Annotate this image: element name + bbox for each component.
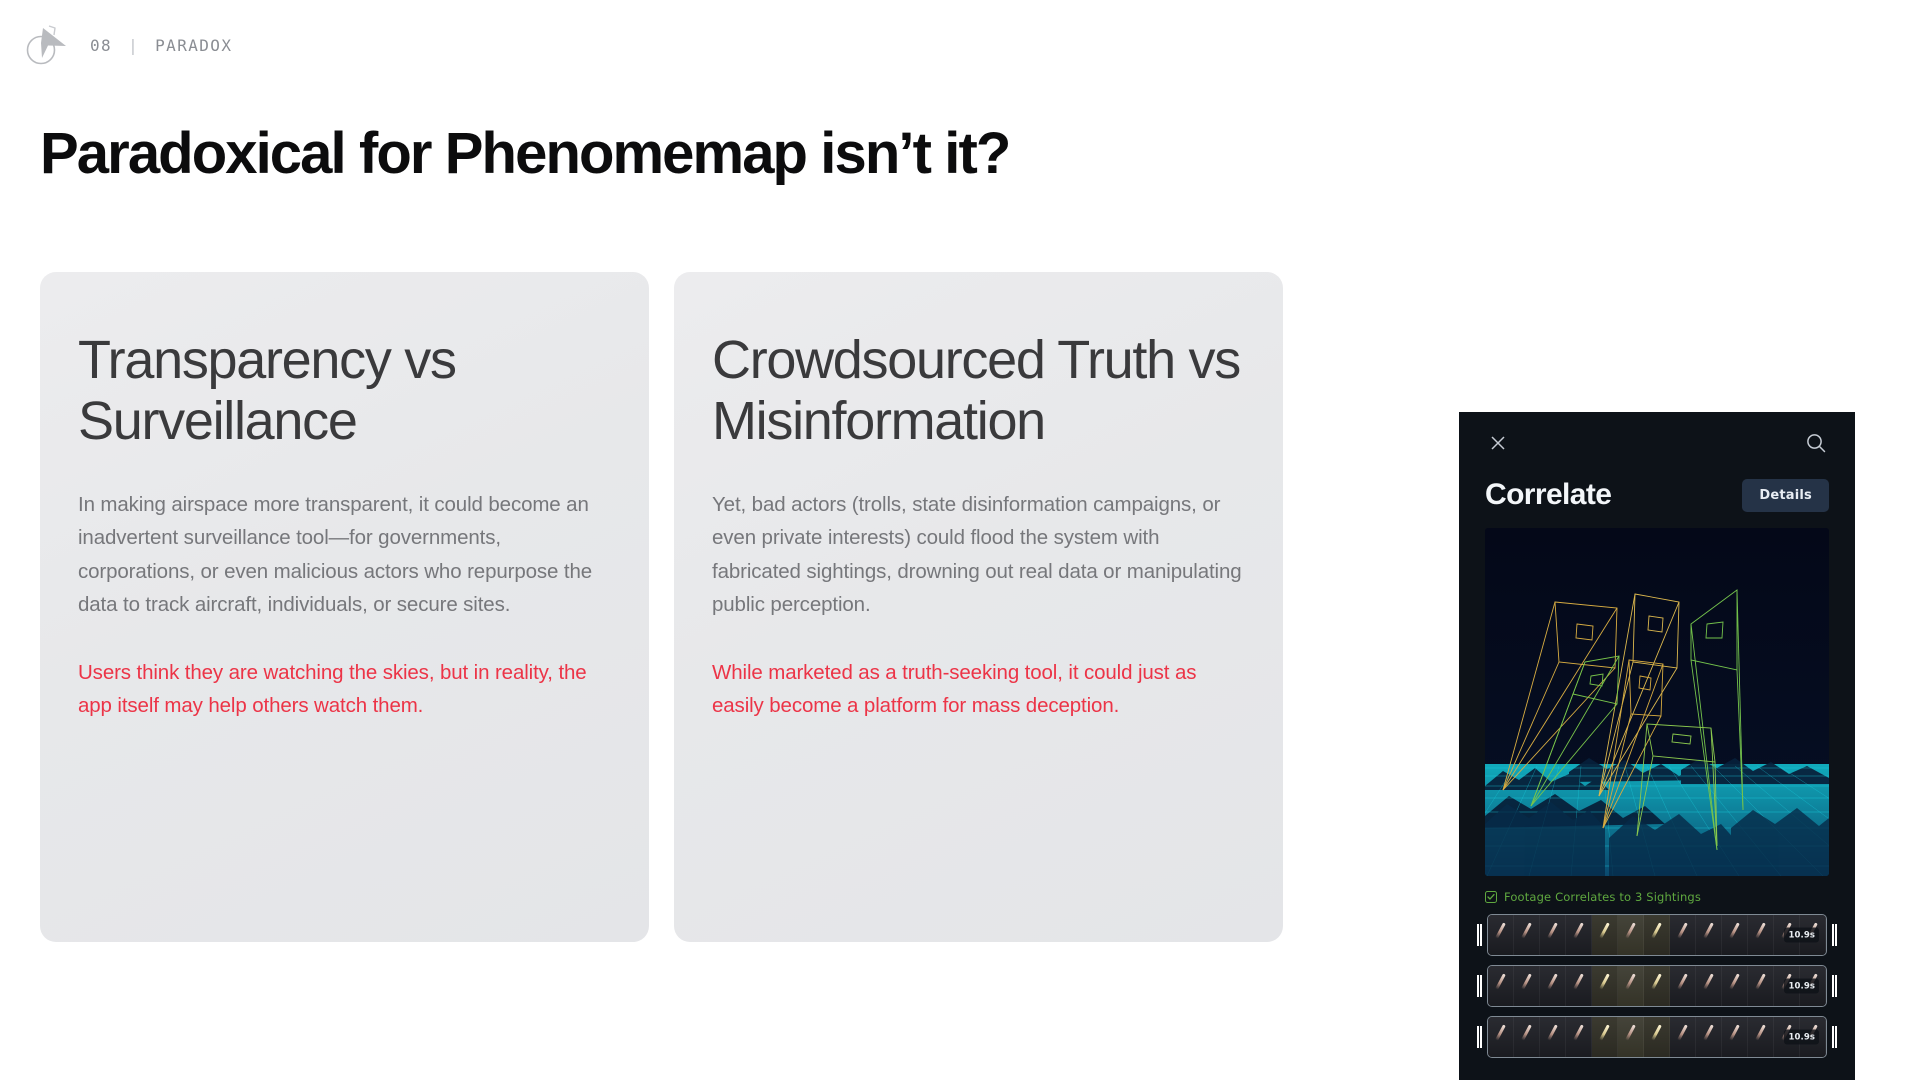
header-separator: | <box>128 36 139 55</box>
card-heading: Transparency vs Surveillance <box>78 330 611 452</box>
sightline-visualization[interactable] <box>1485 528 1829 876</box>
paper-plane-circle-logo <box>22 18 74 70</box>
clip-duration-label: 10.9s <box>1784 979 1819 994</box>
card-grid: Transparency vs Surveillance In making a… <box>40 272 1283 942</box>
clip-handle-left-icon[interactable] <box>1477 975 1482 997</box>
card-crowdsourced-truth-vs-misinformation: Crowdsourced Truth vs Misinformation Yet… <box>674 272 1283 942</box>
close-icon[interactable] <box>1485 430 1511 456</box>
clip-handle-right-icon[interactable] <box>1832 975 1837 997</box>
slide-header: 08 | PARADOX <box>22 18 232 70</box>
details-button[interactable]: Details <box>1742 479 1829 512</box>
card-body-text: In making airspace more transparent, it … <box>78 488 611 622</box>
clip-handle-right-icon[interactable] <box>1832 1026 1837 1048</box>
page-title: Paradoxical for Phenomemap isn’t it? <box>40 123 1009 184</box>
card-heading: Crowdsourced Truth vs Misinformation <box>712 330 1245 452</box>
clip-duration-label: 10.9s <box>1784 1030 1819 1045</box>
clip-filmstrip[interactable]: 10.9s <box>1487 1016 1827 1058</box>
clip-handle-left-icon[interactable] <box>1477 924 1482 946</box>
clip-filmstrip[interactable]: 10.9s <box>1487 914 1827 956</box>
correlation-status-label: Footage Correlates to 3 Sightings <box>1504 890 1701 904</box>
correlation-status: Footage Correlates to 3 Sightings <box>1485 890 1829 904</box>
checkbox-checked-icon <box>1485 891 1497 903</box>
section-label: PARADOX <box>155 36 232 55</box>
phone-screen-title: Correlate <box>1485 478 1611 512</box>
phone-topbar <box>1459 412 1855 474</box>
phone-title-row: Correlate Details <box>1459 474 1855 528</box>
card-highlight-text: While marketed as a truth-seeking tool, … <box>712 656 1245 723</box>
clip-timeline-list: 10.9s 10.9s <box>1477 914 1837 1058</box>
clip-row[interactable]: 10.9s <box>1477 914 1837 956</box>
card-highlight-text: Users think they are watching the skies,… <box>78 656 611 723</box>
clip-handle-left-icon[interactable] <box>1477 1026 1482 1048</box>
clip-row[interactable]: 10.9s <box>1477 965 1837 1007</box>
card-transparency-vs-surveillance: Transparency vs Surveillance In making a… <box>40 272 649 942</box>
clip-duration-label: 10.9s <box>1784 928 1819 943</box>
card-body-text: Yet, bad actors (trolls, state disinform… <box>712 488 1245 622</box>
clip-filmstrip[interactable]: 10.9s <box>1487 965 1827 1007</box>
clip-handle-right-icon[interactable] <box>1832 924 1837 946</box>
search-icon[interactable] <box>1803 430 1829 456</box>
header-meta: 08 | PARADOX <box>90 34 232 55</box>
phone-mockup: Correlate Details <box>1459 412 1855 1080</box>
slide-number: 08 <box>90 36 112 55</box>
clip-row[interactable]: 10.9s <box>1477 1016 1837 1058</box>
